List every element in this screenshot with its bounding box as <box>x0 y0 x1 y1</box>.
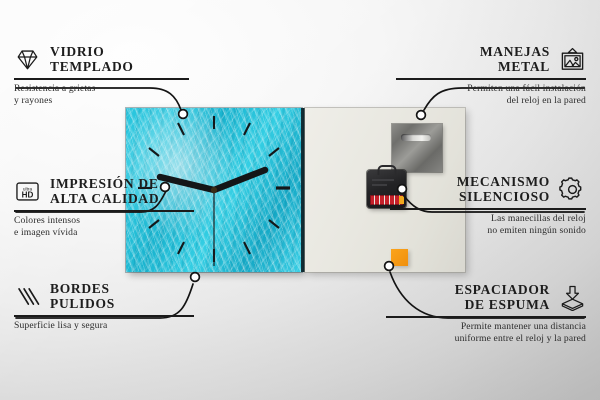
connector-dot-manejas <box>417 111 426 120</box>
foam-spacer-icon <box>559 284 586 311</box>
feature-title: BORDES PULIDOS <box>50 281 115 311</box>
feature-header: MECANISMO SILENCIOSO <box>390 174 586 204</box>
feature-title: IMPRESIÓN DE ALTA CALIDAD <box>50 176 159 206</box>
feature-title: MANEJAS METAL <box>480 44 550 74</box>
divider <box>396 78 586 80</box>
feature-callout-impresion: ultra HD IMPRESIÓN DE ALTA CALIDAD Color… <box>14 176 194 239</box>
feature-callout-manejas: MANEJAS METAL Permiten una fácil instala… <box>396 44 586 107</box>
svg-text:HD: HD <box>22 190 34 199</box>
connector-dot-espaciador <box>385 262 394 271</box>
picture-hanger-icon <box>559 46 586 73</box>
feature-header: VIDRIO TEMPLADO <box>14 44 189 74</box>
feature-callout-espaciador: ESPACIADOR DE ESPUMA Permite mantener un… <box>386 282 586 345</box>
feature-header: ultra HD IMPRESIÓN DE ALTA CALIDAD <box>14 176 194 206</box>
gear-icon <box>559 176 586 203</box>
feature-header: BORDES PULIDOS <box>14 281 194 311</box>
feature-title: ESPACIADOR DE ESPUMA <box>455 282 550 312</box>
divider <box>14 210 194 212</box>
feature-header: MANEJAS METAL <box>396 44 586 74</box>
feature-title: MECANISMO SILENCIOSO <box>457 174 550 204</box>
feature-description: Las manecillas del reloj no emiten ningú… <box>390 213 586 238</box>
divider <box>14 315 194 317</box>
diamond-icon <box>14 46 41 73</box>
polished-edges-icon <box>14 283 41 310</box>
feature-callout-mecanismo: MECANISMO SILENCIOSO Las manecillas del … <box>390 174 586 237</box>
feature-callout-vidrio: VIDRIO TEMPLADO Resistencia a grietas y … <box>14 44 189 107</box>
feature-header: ESPACIADOR DE ESPUMA <box>386 282 586 312</box>
divider <box>390 208 586 210</box>
divider <box>386 316 586 318</box>
feature-description: Superficie lisa y segura <box>14 320 194 332</box>
feature-description: Resistencia a grietas y rayones <box>14 83 189 108</box>
divider <box>14 78 189 80</box>
feature-description: Colores intensos e imagen vívida <box>14 215 194 240</box>
infographic-canvas: VIDRIO TEMPLADO Resistencia a grietas y … <box>0 0 600 400</box>
ultra-hd-icon: ultra HD <box>14 178 41 205</box>
feature-title: VIDRIO TEMPLADO <box>50 44 134 74</box>
feature-description: Permite mantener una distancia uniforme … <box>386 321 586 346</box>
feature-callout-bordes: BORDES PULIDOS Superficie lisa y segura <box>14 281 194 332</box>
connector-dot-vidrio <box>179 110 188 119</box>
feature-description: Permiten una fácil instalación del reloj… <box>396 83 586 108</box>
